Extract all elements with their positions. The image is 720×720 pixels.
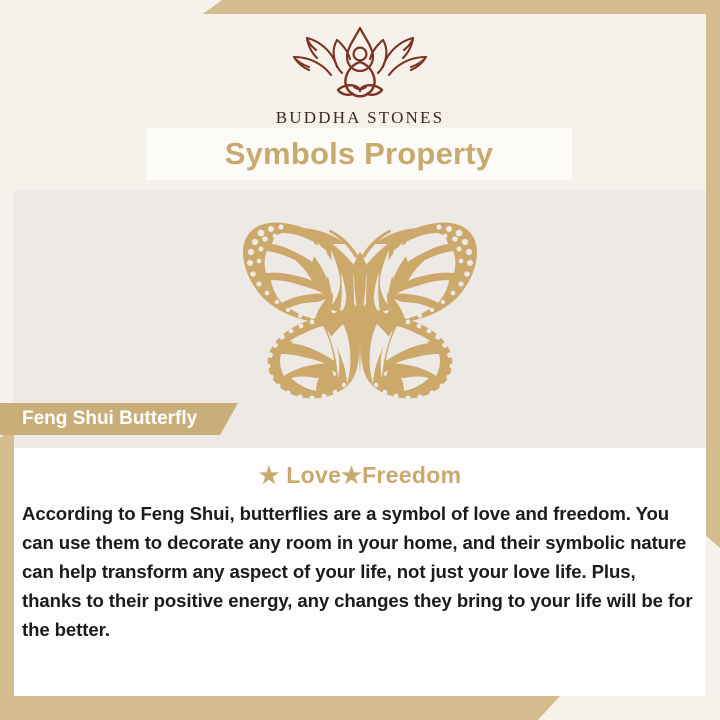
decorative-right-bar xyxy=(704,0,720,548)
page-title: Symbols Property xyxy=(225,136,494,172)
poster-root: BUDDHA STONES Symbols Property xyxy=(0,0,720,720)
body-paragraph: According to Feng Shui, butterflies are … xyxy=(14,499,706,644)
butterfly-icon xyxy=(195,198,525,410)
subheading: ★ Love★Freedom xyxy=(14,462,706,489)
feng-shui-tag-label: Feng Shui Butterfly xyxy=(0,408,197,430)
decorative-bottom-bar xyxy=(0,696,560,720)
lotus-meditation-icon xyxy=(285,24,435,104)
description-panel: ★ Love★Freedom According to Feng Shui, b… xyxy=(14,448,706,696)
header: BUDDHA STONES Symbols Property xyxy=(14,14,706,190)
feng-shui-tag: Feng Shui Butterfly xyxy=(0,403,238,435)
brand-name: BUDDHA STONES xyxy=(276,108,445,128)
brand-logo-block: BUDDHA STONES xyxy=(14,24,706,128)
title-banner: Symbols Property xyxy=(146,128,572,180)
